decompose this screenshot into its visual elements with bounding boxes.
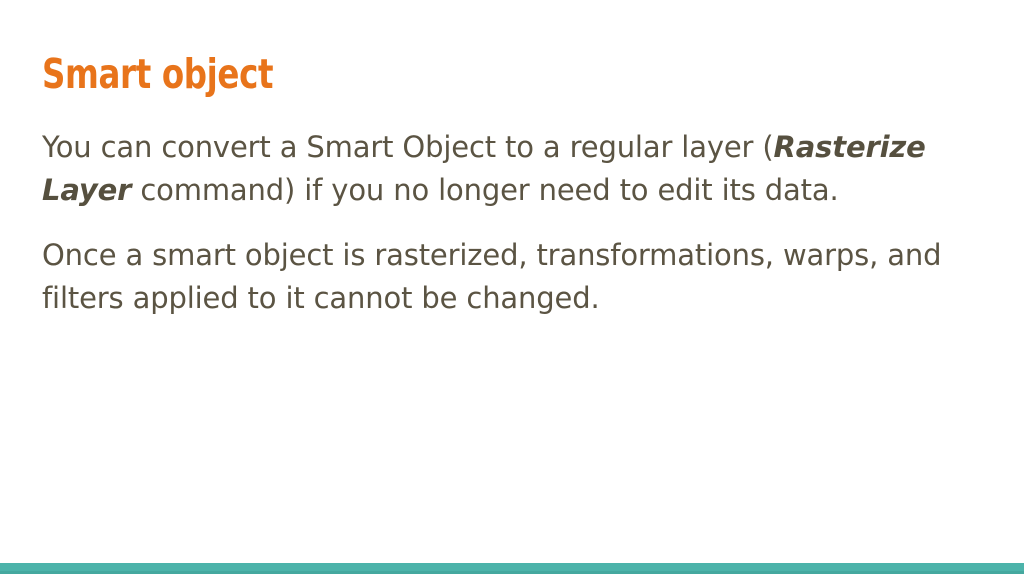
paragraph-1-segment-1: You can convert a Smart Object to a regu… <box>42 130 774 164</box>
paragraph-2-segment-1: Once a smart object is rasterized, trans… <box>42 238 941 315</box>
body-paragraph-1: You can convert a Smart Object to a regu… <box>42 126 967 212</box>
body-paragraph-2: Once a smart object is rasterized, trans… <box>42 234 967 320</box>
paragraph-1-segment-3: command) if you no longer need to edit i… <box>131 173 838 207</box>
footer-accent-bar <box>0 563 1024 574</box>
slide-body: You can convert a Smart Object to a regu… <box>42 126 972 320</box>
presentation-slide: Smart object You can convert a Smart Obj… <box>0 0 1024 574</box>
slide-title: Smart object <box>42 52 860 98</box>
slide-content: Smart object You can convert a Smart Obj… <box>42 52 972 320</box>
